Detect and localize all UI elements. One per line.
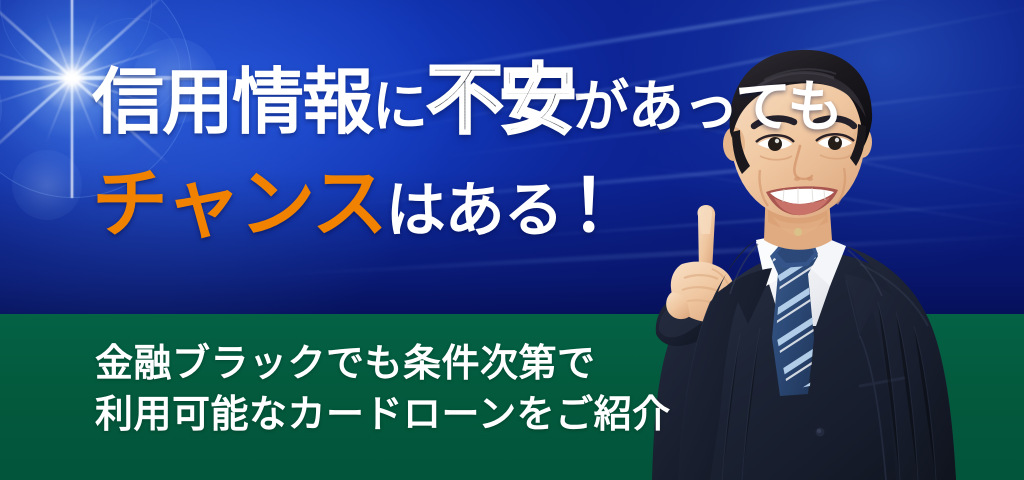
headline-text-even-if: があっても xyxy=(573,80,842,138)
promo-banner: 信用情報に不安があっても チャンスはある！ 金融ブラックでも条件次第で 利用可能… xyxy=(0,0,1024,480)
subcopy-line-2: 利用可能なカードローンをご紹介 xyxy=(95,389,671,440)
headline-text-anxiety-emphasis: 不安 xyxy=(427,62,573,138)
subcopy: 金融ブラックでも条件次第で 利用可能なカードローンをご紹介 xyxy=(95,338,671,440)
headline-exclamation-mark: ！ xyxy=(563,170,643,242)
headline-line-1: 信用情報に不安があっても xyxy=(92,62,842,144)
headline-text-credit-info: 信用情報 xyxy=(92,66,372,138)
headline-text-chance-accent: チャンス xyxy=(92,166,386,242)
subcopy-line-1: 金融ブラックでも条件次第で xyxy=(95,338,671,389)
headline-text-particle-ni: に xyxy=(372,80,427,138)
headline-line-2: チャンスはある！ xyxy=(92,166,842,244)
headline-text-there-is: はある xyxy=(386,181,563,242)
headline: 信用情報に不安があっても チャンスはある！ xyxy=(92,62,842,244)
